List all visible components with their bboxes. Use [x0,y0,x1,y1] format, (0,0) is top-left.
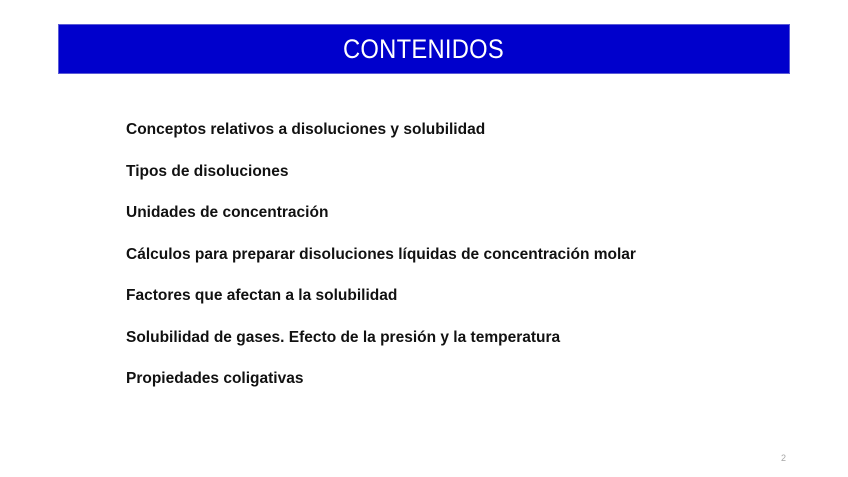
slide: CONTENIDOS Conceptos relativos a disoluc… [0,0,848,477]
content-item: Conceptos relativos a disoluciones y sol… [126,122,766,164]
content-item: Cálculos para preparar disoluciones líqu… [126,247,766,289]
content-item: Unidades de concentración [126,205,766,247]
content-item: Tipos de disoluciones [126,164,766,206]
slide-title: CONTENIDOS [343,36,504,63]
title-banner: CONTENIDOS [58,24,790,74]
content-item: Propiedades coligativas [126,371,766,413]
page-number: 2 [781,454,786,463]
content-item: Factores que afectan a la solubilidad [126,288,766,330]
content-item: Solubilidad de gases. Efecto de la presi… [126,330,766,372]
contents-list: Conceptos relativos a disoluciones y sol… [126,122,766,413]
